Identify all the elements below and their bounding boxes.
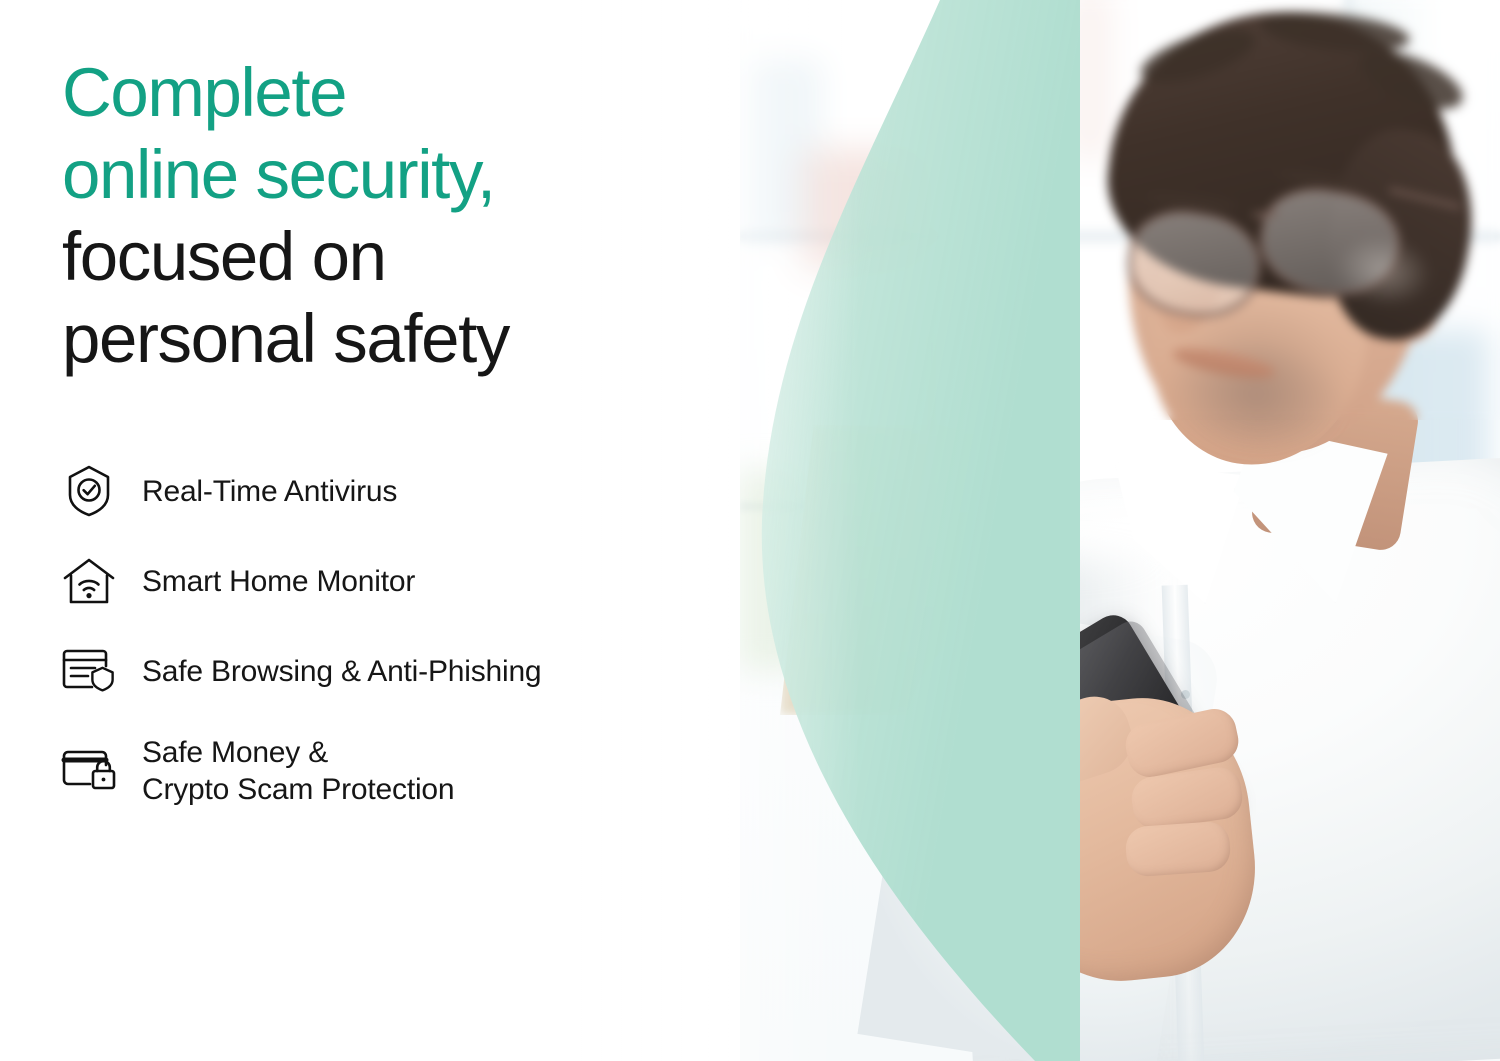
feature-label: Smart Home Monitor: [142, 563, 415, 600]
feature-label: Safe Money & Crypto Scam Protection: [142, 734, 454, 808]
headline-line-1: Complete: [62, 52, 722, 134]
feature-list: Real-Time Antivirus Smart Home Monitor: [62, 464, 722, 808]
headline-line-4: personal safety: [62, 298, 722, 380]
browser-shield-icon: [62, 644, 116, 698]
feature-label: Safe Browsing & Anti-Phishing: [142, 653, 541, 690]
feature-item: Safe Money & Crypto Scam Protection: [62, 734, 722, 808]
feature-label: Real-Time Antivirus: [142, 473, 397, 510]
feature-item: Smart Home Monitor: [62, 554, 722, 608]
glasses-bridge: [1252, 212, 1278, 218]
marketing-banner: Complete online security, focused on per…: [0, 0, 1500, 1061]
feature-item: Safe Browsing & Anti-Phishing: [62, 644, 722, 698]
content-column: Complete online security, focused on per…: [62, 0, 722, 1061]
hero-photo: [740, 0, 1500, 1061]
shield-check-icon: [62, 464, 116, 518]
feature-item: Real-Time Antivirus: [62, 464, 722, 518]
headline-line-3: focused on: [62, 216, 722, 298]
card-lock-icon: [62, 744, 116, 798]
headline-line-2: online security,: [62, 134, 722, 216]
finger: [1124, 820, 1231, 877]
page-title: Complete online security, focused on per…: [62, 52, 722, 380]
home-wifi-icon: [62, 554, 116, 608]
person: [740, 0, 1500, 1061]
